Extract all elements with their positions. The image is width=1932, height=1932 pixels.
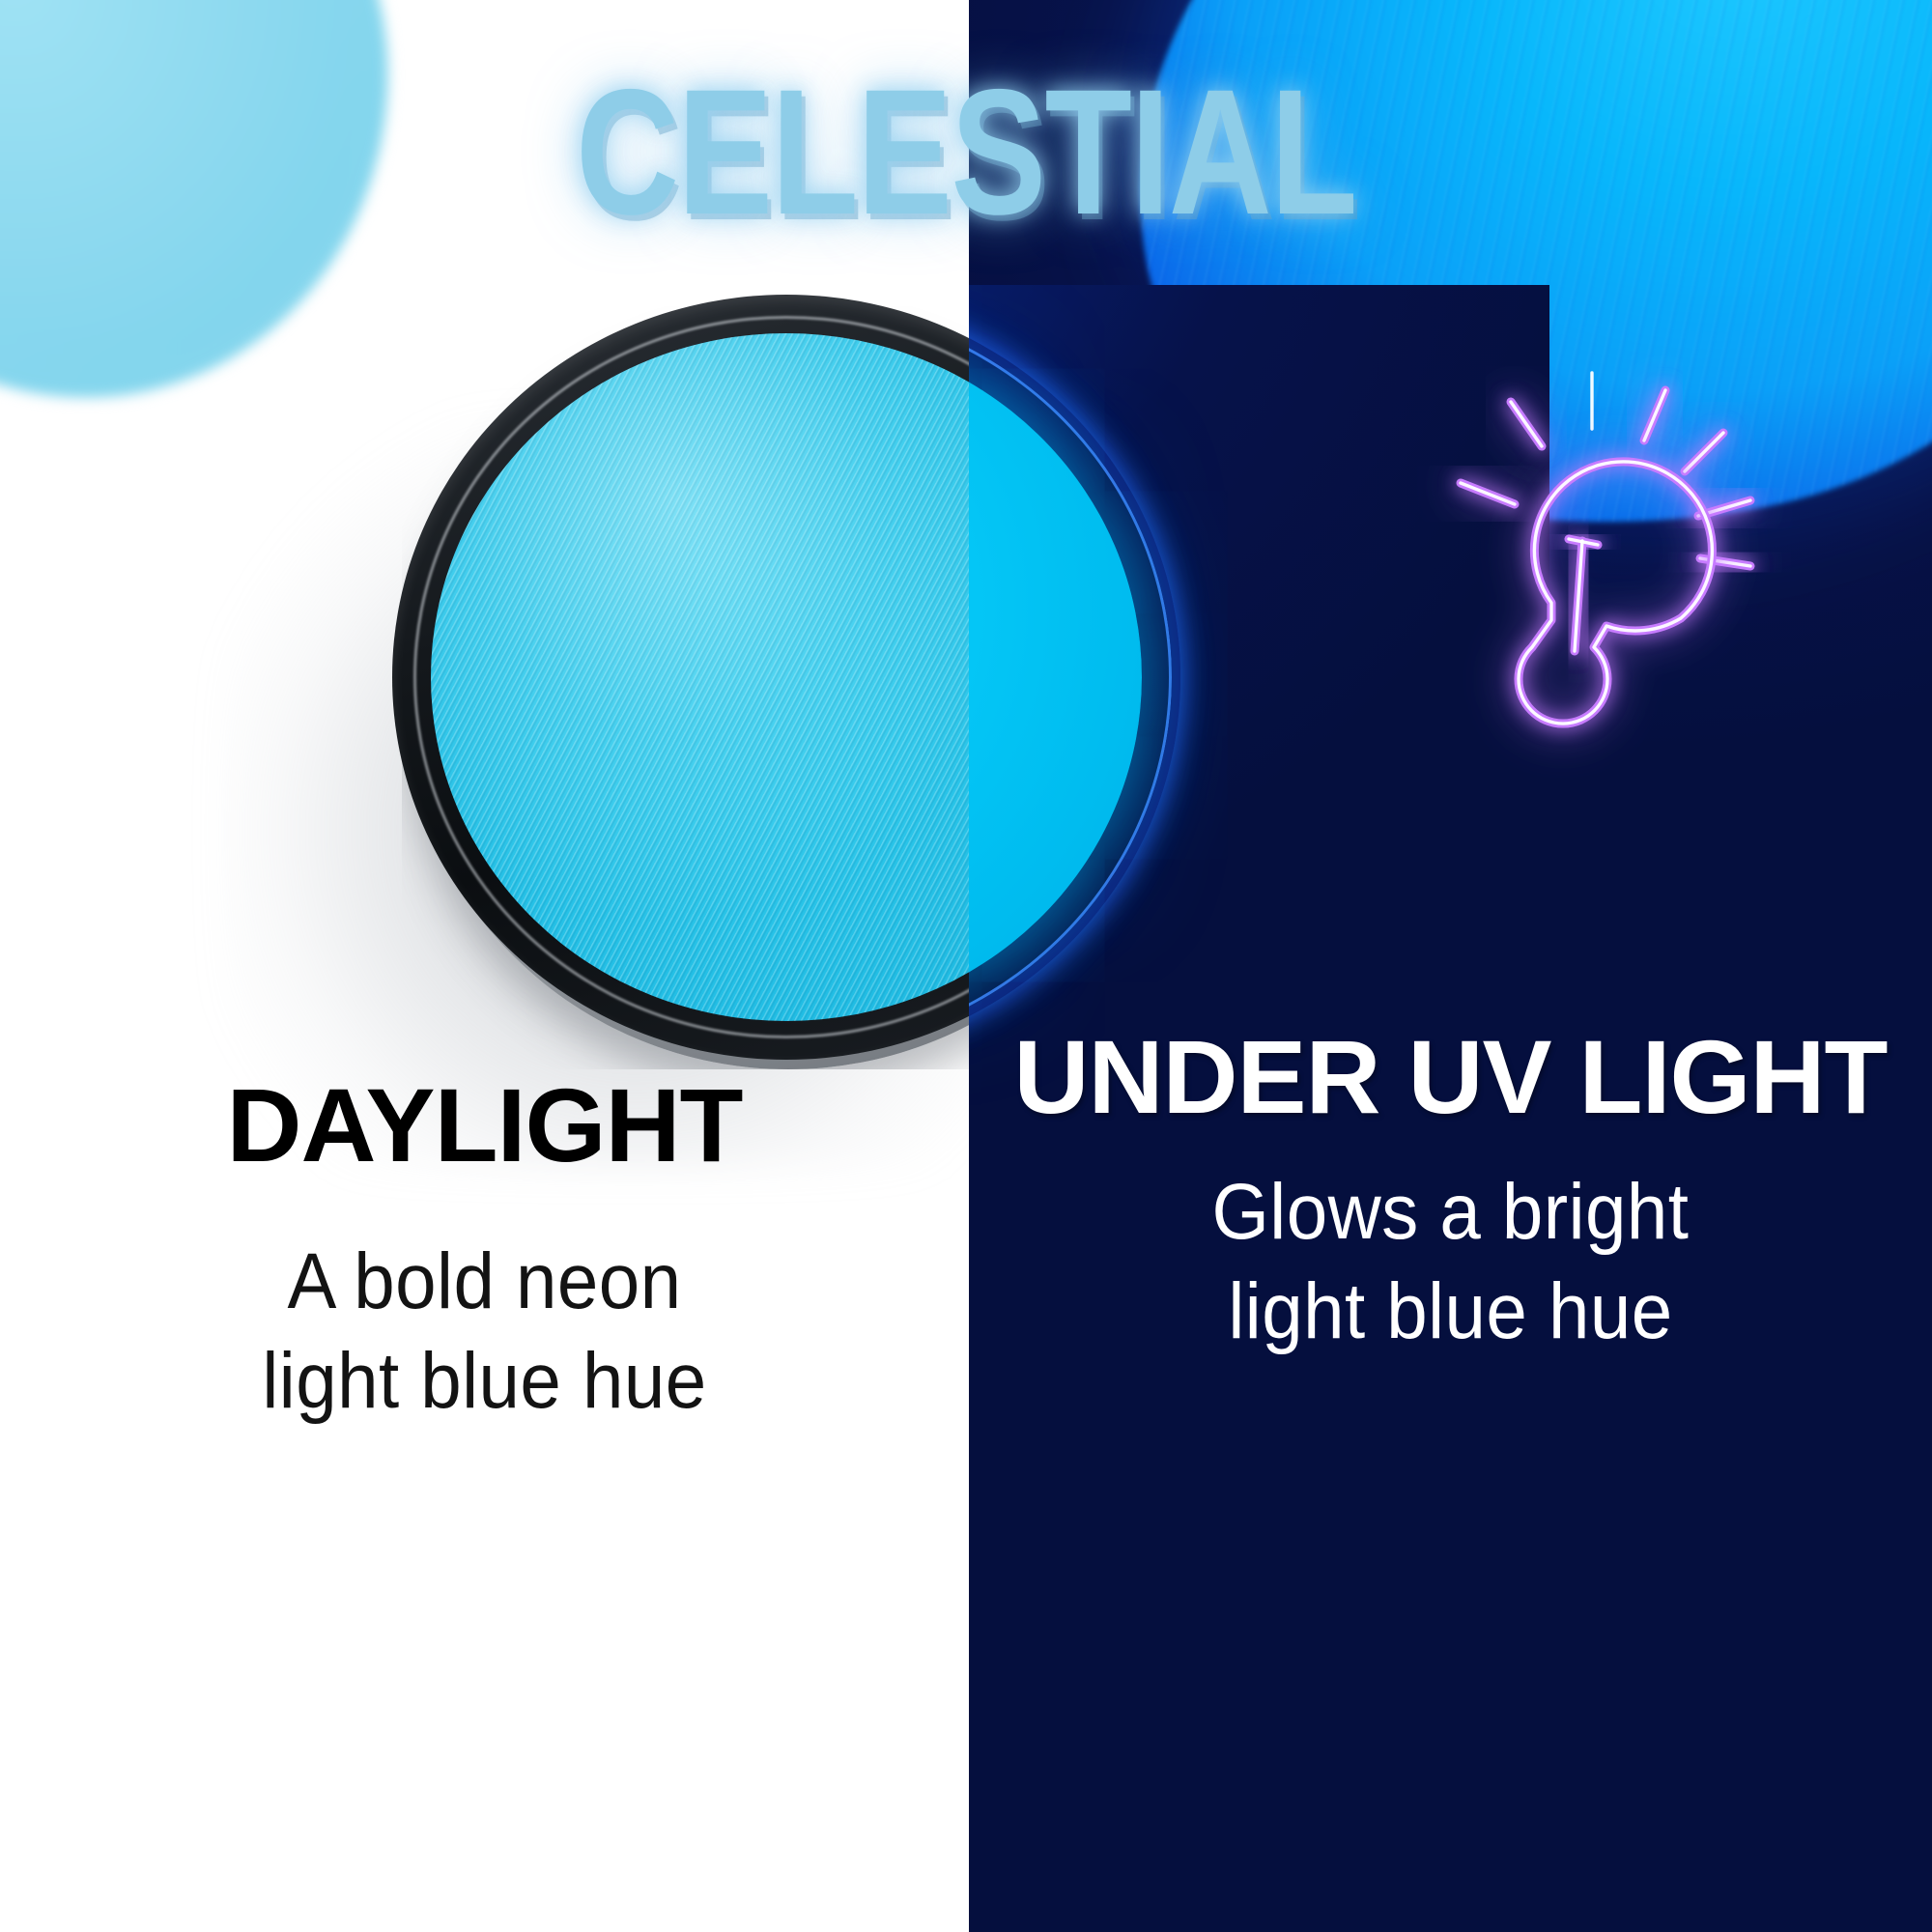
daylight-description: A bold neon light blue hue: [34, 1233, 935, 1431]
uv-description: Glows a bright light blue hue: [1003, 1163, 1898, 1361]
comparison-graphic: CELESTIAL: [0, 0, 1932, 1932]
bulb-body: [1519, 462, 1712, 724]
uv-caption: UNDER UV LIGHT Glows a bright light blue…: [969, 1024, 1932, 1361]
uv-description-line-1: Glows a bright: [1003, 1163, 1898, 1263]
brand-title: CELESTIAL: [193, 64, 1739, 242]
daylight-caption: DAYLIGHT A bold neon light blue hue: [0, 1072, 969, 1431]
daylight-heading: DAYLIGHT: [0, 1072, 969, 1179]
uv-heading: UNDER UV LIGHT: [969, 1024, 1932, 1130]
uv-heading-line-2: LIGHT: [1579, 1018, 1888, 1135]
uv-heading-line-1: UNDER UV: [1013, 1018, 1550, 1135]
lightbulb-icon: [1428, 340, 1776, 746]
uv-description-line-2: light blue hue: [1003, 1263, 1898, 1362]
daylight-description-line-1: A bold neon: [34, 1233, 935, 1332]
daylight-description-line-2: light blue hue: [34, 1332, 935, 1432]
